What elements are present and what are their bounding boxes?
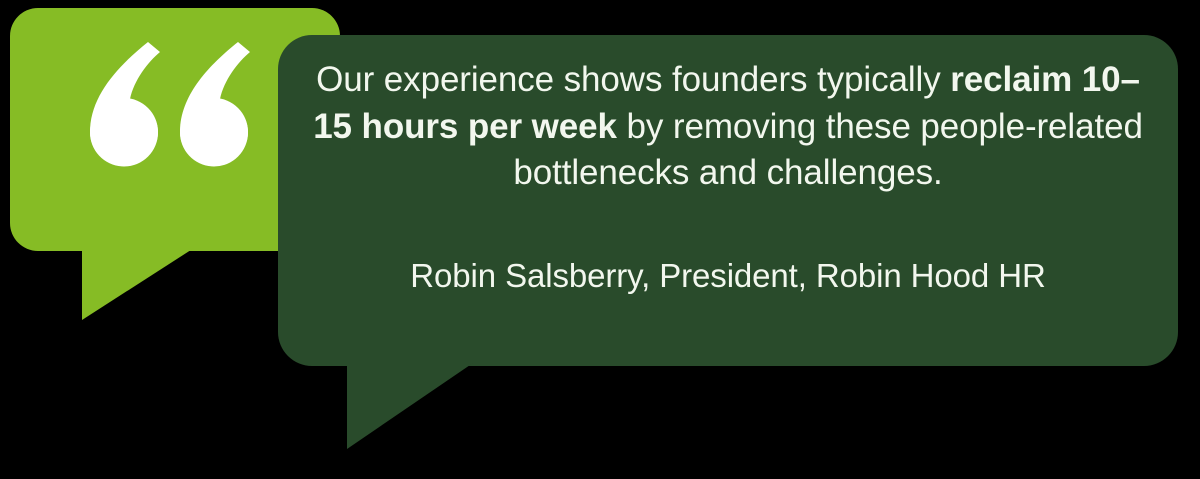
accent-speech-bubble-tail bbox=[82, 248, 194, 320]
quote-text: Our experience shows founders typically … bbox=[313, 57, 1143, 197]
quote-text-lead: Our experience shows founders typically bbox=[316, 60, 950, 99]
quote-attribution: Robin Salsberry, President, Robin Hood H… bbox=[410, 197, 1045, 298]
testimonial-graphic: Our experience shows founders typically … bbox=[0, 0, 1200, 479]
quote-speech-bubble: Our experience shows founders typically … bbox=[278, 35, 1178, 366]
quote-speech-bubble-tail bbox=[347, 363, 473, 449]
